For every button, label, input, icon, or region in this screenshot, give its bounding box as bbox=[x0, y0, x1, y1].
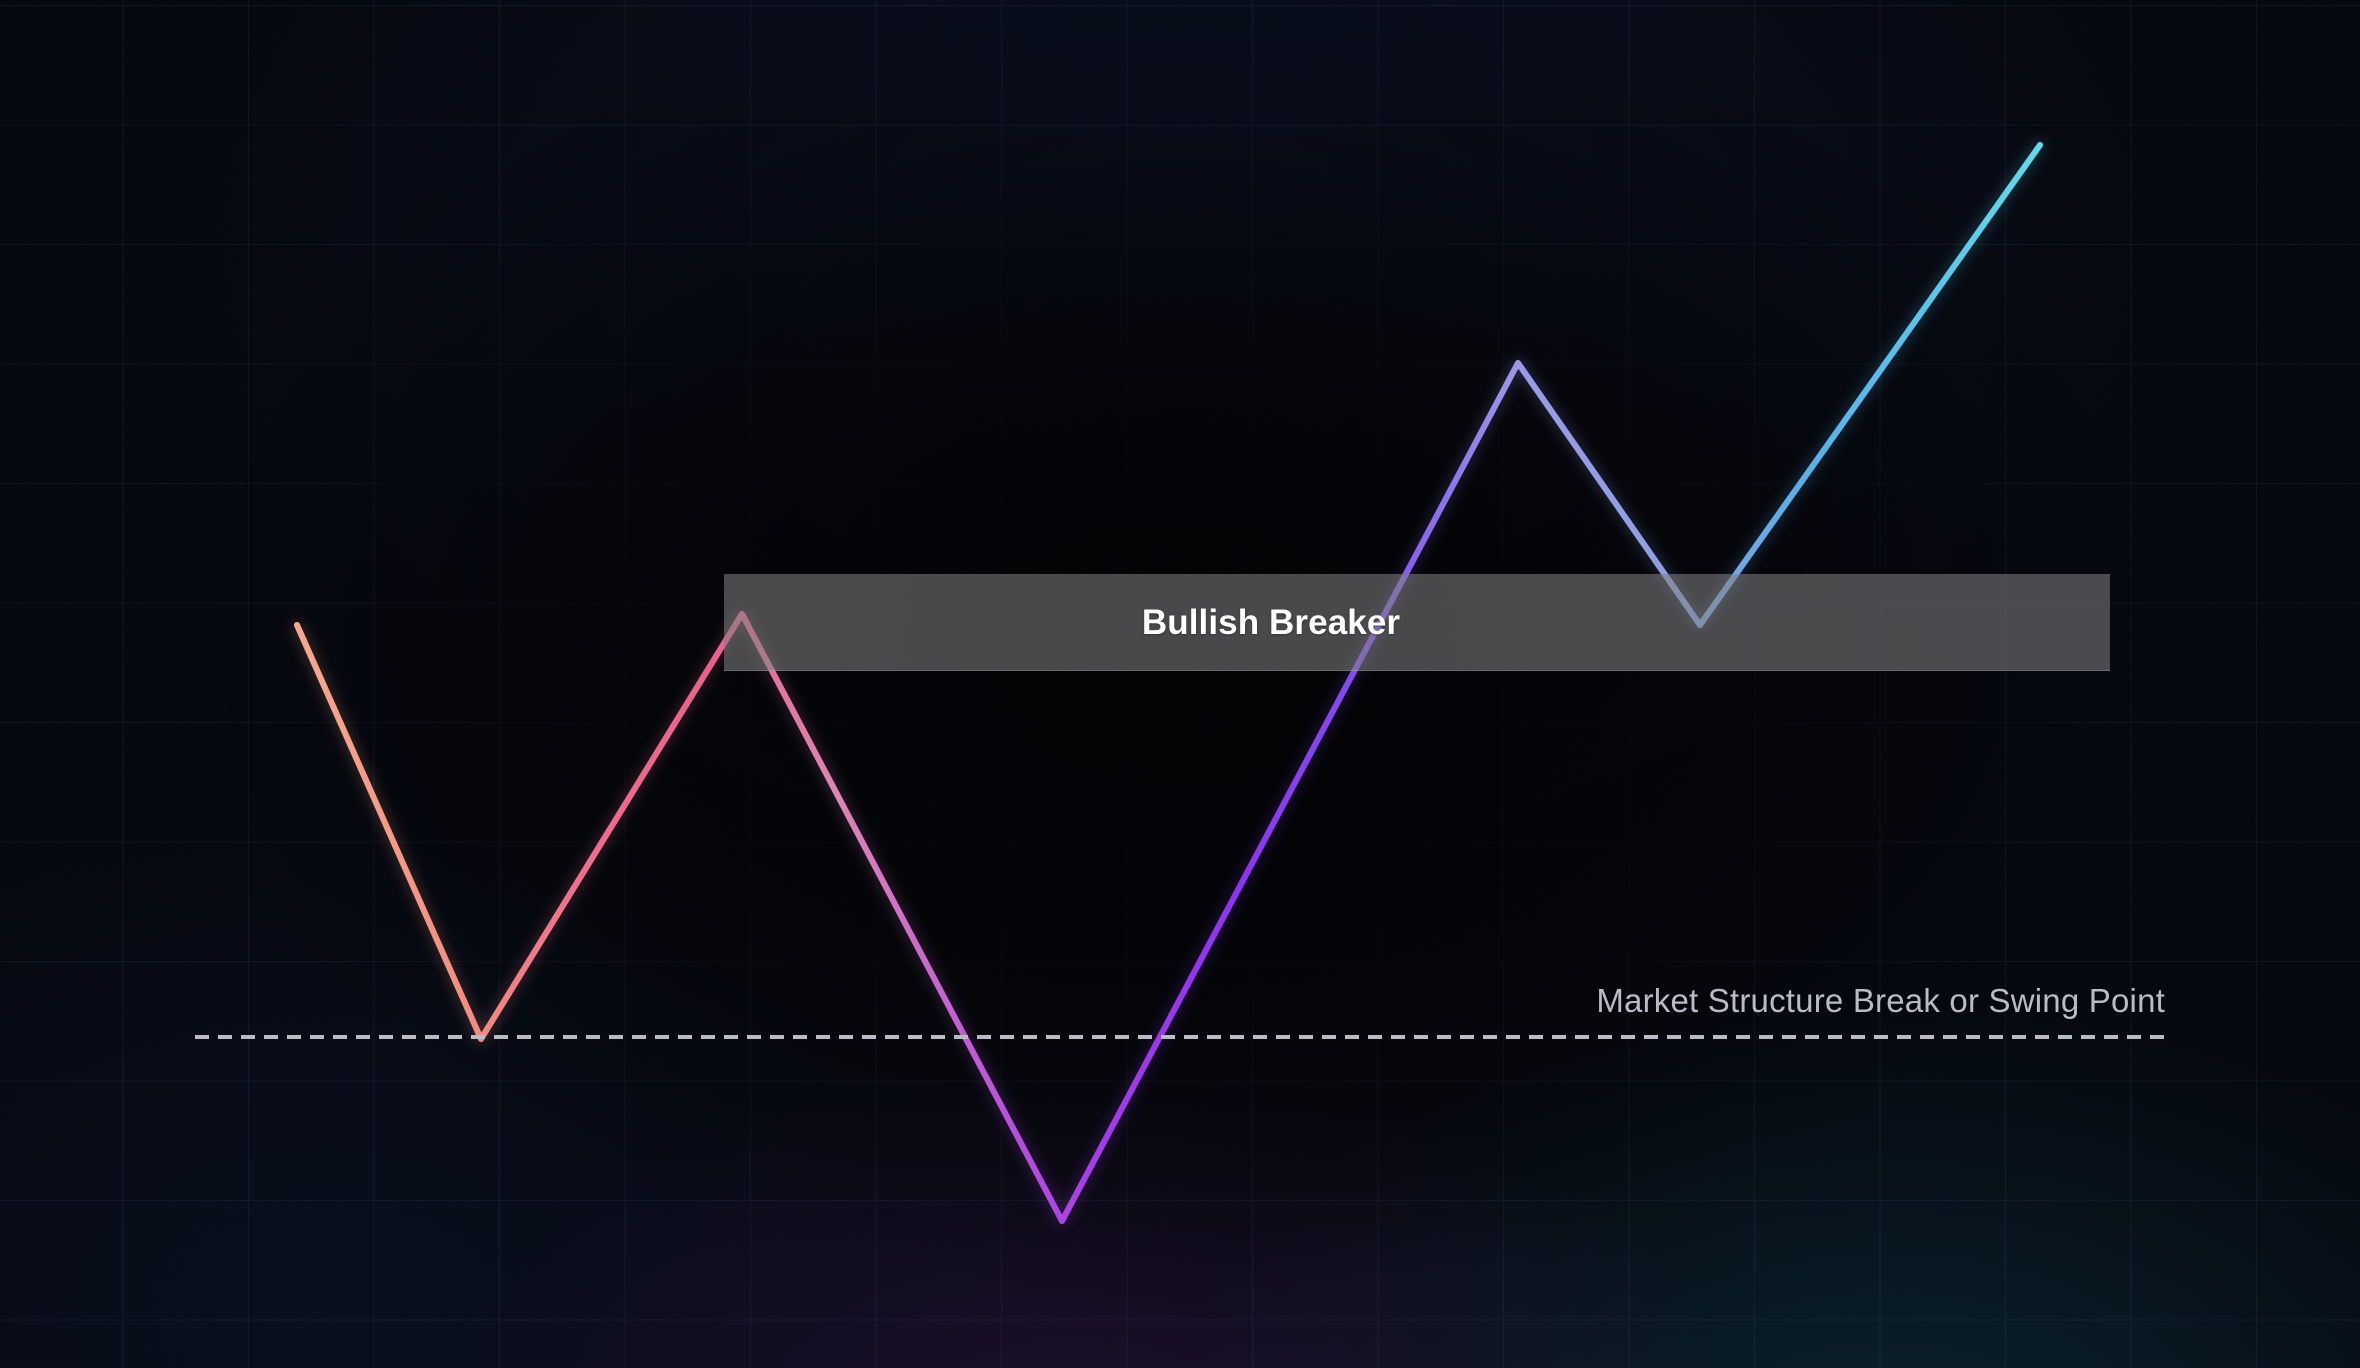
market-structure-break-label: Market Structure Break or Swing Point bbox=[1596, 982, 2165, 1020]
bullish-breaker-zone[interactable]: Bullish Breaker bbox=[724, 574, 2110, 671]
price-line-glow bbox=[297, 145, 2040, 1221]
bullish-breaker-zone-label: Bullish Breaker bbox=[1142, 605, 1400, 640]
price-action-chart bbox=[0, 0, 2360, 1368]
price-line bbox=[297, 145, 2040, 1221]
chart-canvas: Bullish Breaker Market Structure Break o… bbox=[0, 0, 2360, 1368]
